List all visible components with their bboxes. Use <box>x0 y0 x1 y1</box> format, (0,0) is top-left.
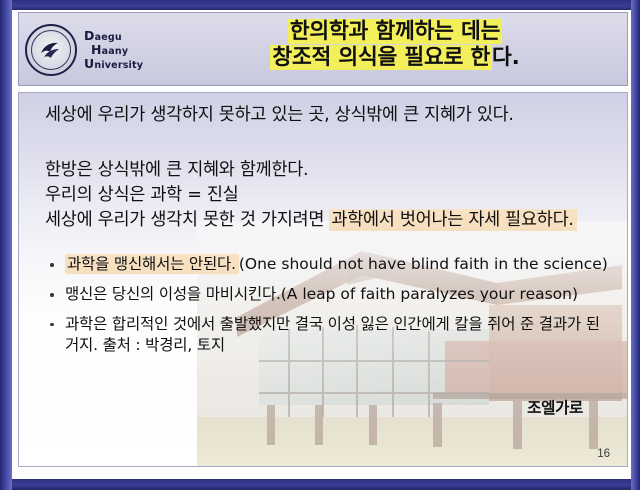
quote-attribution: 조엘가로 <box>527 396 583 418</box>
title-line-1-text: 한의학과 함께하는 데는 <box>288 19 502 44</box>
paragraph-2-line-3-highlight: 과학에서 벗어나는 자세 필요하다. <box>329 209 576 231</box>
title-line-1: 한의학과 함께하는 데는 <box>169 19 621 45</box>
paragraph-2-line-2: 우리의 상식은 과학 = 진실 <box>45 185 238 205</box>
bullet-1-korean: 과학을 맹신해서는 안된다. <box>65 254 239 274</box>
paragraph-2-line-1: 한방은 상식밖에 큰 지혜와 함께한다. <box>45 160 308 180</box>
logo-line2-rest: aany <box>102 46 129 57</box>
page-number: 16 <box>597 448 610 460</box>
university-logo-text: Daegu Haany University <box>84 29 143 72</box>
bullet-2-english: (A leap of faith paralyzes your reason) <box>281 285 578 303</box>
list-item: 맹신은 당신의 이성을 마비시킨다.(A leap of faith paral… <box>45 284 613 305</box>
paragraph-2: 한방은 상식밖에 큰 지혜와 함께한다. 우리의 상식은 과학 = 진실 세상에… <box>45 158 613 233</box>
title-line-2-tail: 다. <box>492 45 520 70</box>
list-item: 과학을 맹신해서는 안된다.(One should not have blind… <box>45 254 613 275</box>
slide-frame-top <box>0 0 640 10</box>
university-logo: Daegu Haany University <box>25 17 153 83</box>
logo-line3-rest: niversity <box>94 60 143 71</box>
slide-content: 세상에 우리가 생각하지 못하고 있는 곳, 상식밖에 큰 지혜가 있다. 한방… <box>19 93 627 355</box>
bullet-list: 과학을 맹신해서는 안된다.(One should not have blind… <box>45 254 613 355</box>
seal-emblem-icon <box>38 37 64 63</box>
title-line-2-highlight: 창조적 의식을 필요로 한 <box>270 45 492 70</box>
presentation-slide: Daegu Haany University 한의학과 함께하는 데는 창조적 … <box>0 0 640 490</box>
logo-line1-cap: D <box>84 28 95 43</box>
bullet-3-source: 출처 : 박경리, 토지 <box>98 336 225 354</box>
logo-line3-cap: U <box>84 56 94 71</box>
slide-frame-left <box>0 0 12 490</box>
slide-frame-right <box>631 0 640 490</box>
slide-frame-bottom <box>0 479 640 490</box>
bullet-1-english: (One should not have blind faith in the … <box>239 255 608 273</box>
logo-line2-cap: H <box>91 42 102 57</box>
list-item: 과학은 합리적인 것에서 출발했지만 결국 이성 잃은 인간에게 칼을 쥐어 준… <box>45 314 613 356</box>
slide-header: Daegu Haany University 한의학과 함께하는 데는 창조적 … <box>18 12 628 86</box>
university-seal-icon <box>25 24 77 76</box>
slide-title: 한의학과 함께하는 데는 창조적 의식을 필요로 한다. <box>169 19 621 71</box>
bullet-2-korean: 맹신은 당신의 이성을 마비시킨다. <box>65 285 281 303</box>
paragraph-1: 세상에 우리가 생각하지 못하고 있는 곳, 상식밖에 큰 지혜가 있다. <box>45 103 613 128</box>
title-line-2: 창조적 의식을 필요로 한다. <box>169 45 621 71</box>
paragraph-2-line-3-plain: 세상에 우리가 생각치 못한 것 가지려면 <box>45 210 329 230</box>
slide-body: 세상에 우리가 생각하지 못하고 있는 곳, 상식밖에 큰 지혜가 있다. 한방… <box>18 92 628 467</box>
